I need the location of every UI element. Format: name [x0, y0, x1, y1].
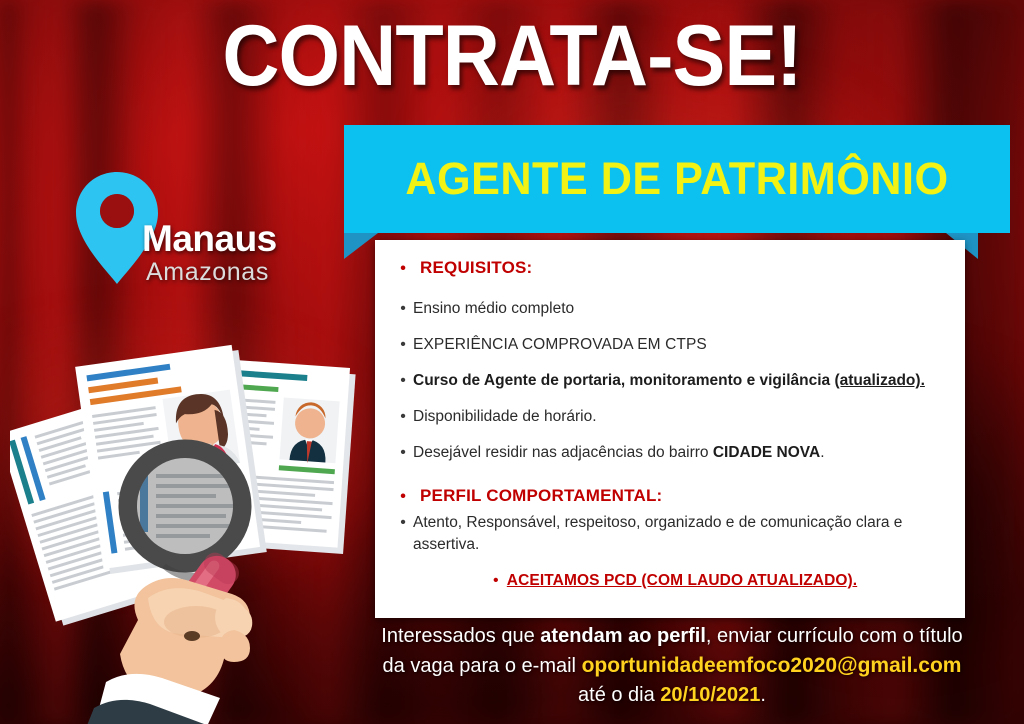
profile-heading-bullet: • — [393, 486, 413, 508]
spacer — [393, 324, 949, 334]
profile-text: Atento, Responsável, respeitoso, organiz… — [413, 512, 949, 556]
pcd-bullet: • — [485, 570, 507, 592]
requirement-text-post: . — [820, 444, 824, 461]
requirement-text: Disponibilidade de horário. — [413, 406, 949, 428]
footer-line1-pre: Interessados que — [381, 625, 540, 647]
list-bullet: • — [393, 406, 413, 428]
list-bullet: • — [393, 512, 413, 534]
spacer — [393, 360, 949, 370]
location-state: Amazonas — [146, 258, 269, 287]
requirement-text: Desejável residir nas adjacências do bai… — [413, 442, 949, 464]
requirements-heading: REQUISITOS: — [413, 258, 532, 278]
footer-line-2: da vaga para o e-mail oportunidadeemfoco… — [352, 651, 992, 681]
spacer — [393, 284, 949, 298]
location-city: Manaus — [142, 218, 277, 260]
profile-item: • Atento, Responsável, respeitoso, organ… — [393, 512, 949, 556]
list-bullet: • — [393, 442, 413, 464]
job-title-banner: AGENTE DE PATRIMÔNIO — [344, 125, 1010, 233]
job-title-text: AGENTE DE PATRIMÔNIO — [405, 153, 948, 205]
requirements-heading-bullet: • — [393, 258, 413, 280]
list-bullet: • — [393, 298, 413, 320]
banner-tail-left — [344, 233, 378, 259]
pcd-text: ACEITAMOS PCD (COM LAUDO ATUALIZADO). — [507, 570, 857, 592]
requirement-text-bold: Curso de Agente de portaria, monitoramen… — [413, 372, 834, 389]
list-bullet: • — [393, 334, 413, 356]
poster-headline: CONTRATA-SE! — [41, 8, 983, 104]
list-bullet: • — [393, 370, 413, 392]
requirements-panel: • REQUISITOS: • Ensino médio completo • … — [375, 240, 965, 618]
requirement-item: • Curso de Agente de portaria, monitoram… — [393, 370, 949, 392]
footer-line-1: Interessados que atendam ao perfil, envi… — [352, 622, 992, 651]
requirement-item: • Desejável residir nas adjacências do b… — [393, 442, 949, 464]
footer-line3-pre: até o dia — [578, 684, 660, 706]
requirements-heading-row: • REQUISITOS: — [393, 258, 949, 280]
resume-search-illustration — [10, 330, 382, 724]
footer-contact: Interessados que atendam ao perfil, envi… — [352, 622, 992, 710]
spacer — [393, 432, 949, 442]
requirement-text: Ensino médio completo — [413, 298, 949, 320]
profile-heading: PERFIL COMPORTAMENTAL: — [413, 486, 662, 506]
requirement-item: • EXPERIÊNCIA COMPROVADA EM CTPS — [393, 334, 949, 356]
profile-heading-row: • PERFIL COMPORTAMENTAL: — [393, 486, 949, 508]
requirement-text-bold: CIDADE NOVA — [713, 444, 820, 461]
contact-email[interactable]: oportunidadeemfoco2020@gmail.com — [582, 654, 962, 677]
deadline-date: 20/10/2021 — [660, 684, 760, 706]
spacer — [393, 396, 949, 406]
footer-line2-pre: da vaga para o e-mail — [383, 655, 582, 677]
footer-line-3: até o dia 20/10/2021. — [352, 681, 992, 710]
requirement-text-pre: Desejável residir nas adjacências do bai… — [413, 444, 713, 461]
footer-line3-post: . — [760, 684, 766, 706]
requirement-text: EXPERIÊNCIA COMPROVADA EM CTPS — [413, 334, 949, 356]
pcd-note: • ACEITAMOS PCD (COM LAUDO ATUALIZADO). — [393, 570, 949, 592]
location-block: Manaus Amazonas — [72, 168, 342, 288]
requirement-text: Curso de Agente de portaria, monitoramen… — [413, 370, 949, 392]
job-poster: CONTRATA-SE! AGENTE DE PATRIMÔNIO Manaus… — [0, 0, 1024, 724]
requirement-item: • Ensino médio completo — [393, 298, 949, 320]
requirement-text-underline: (atualizado). — [834, 372, 924, 389]
requirement-item: • Disponibilidade de horário. — [393, 406, 949, 428]
spacer — [393, 468, 949, 486]
footer-line1-post: , enviar currículo com o título — [706, 625, 963, 647]
footer-line1-bold: atendam ao perfil — [540, 625, 706, 647]
